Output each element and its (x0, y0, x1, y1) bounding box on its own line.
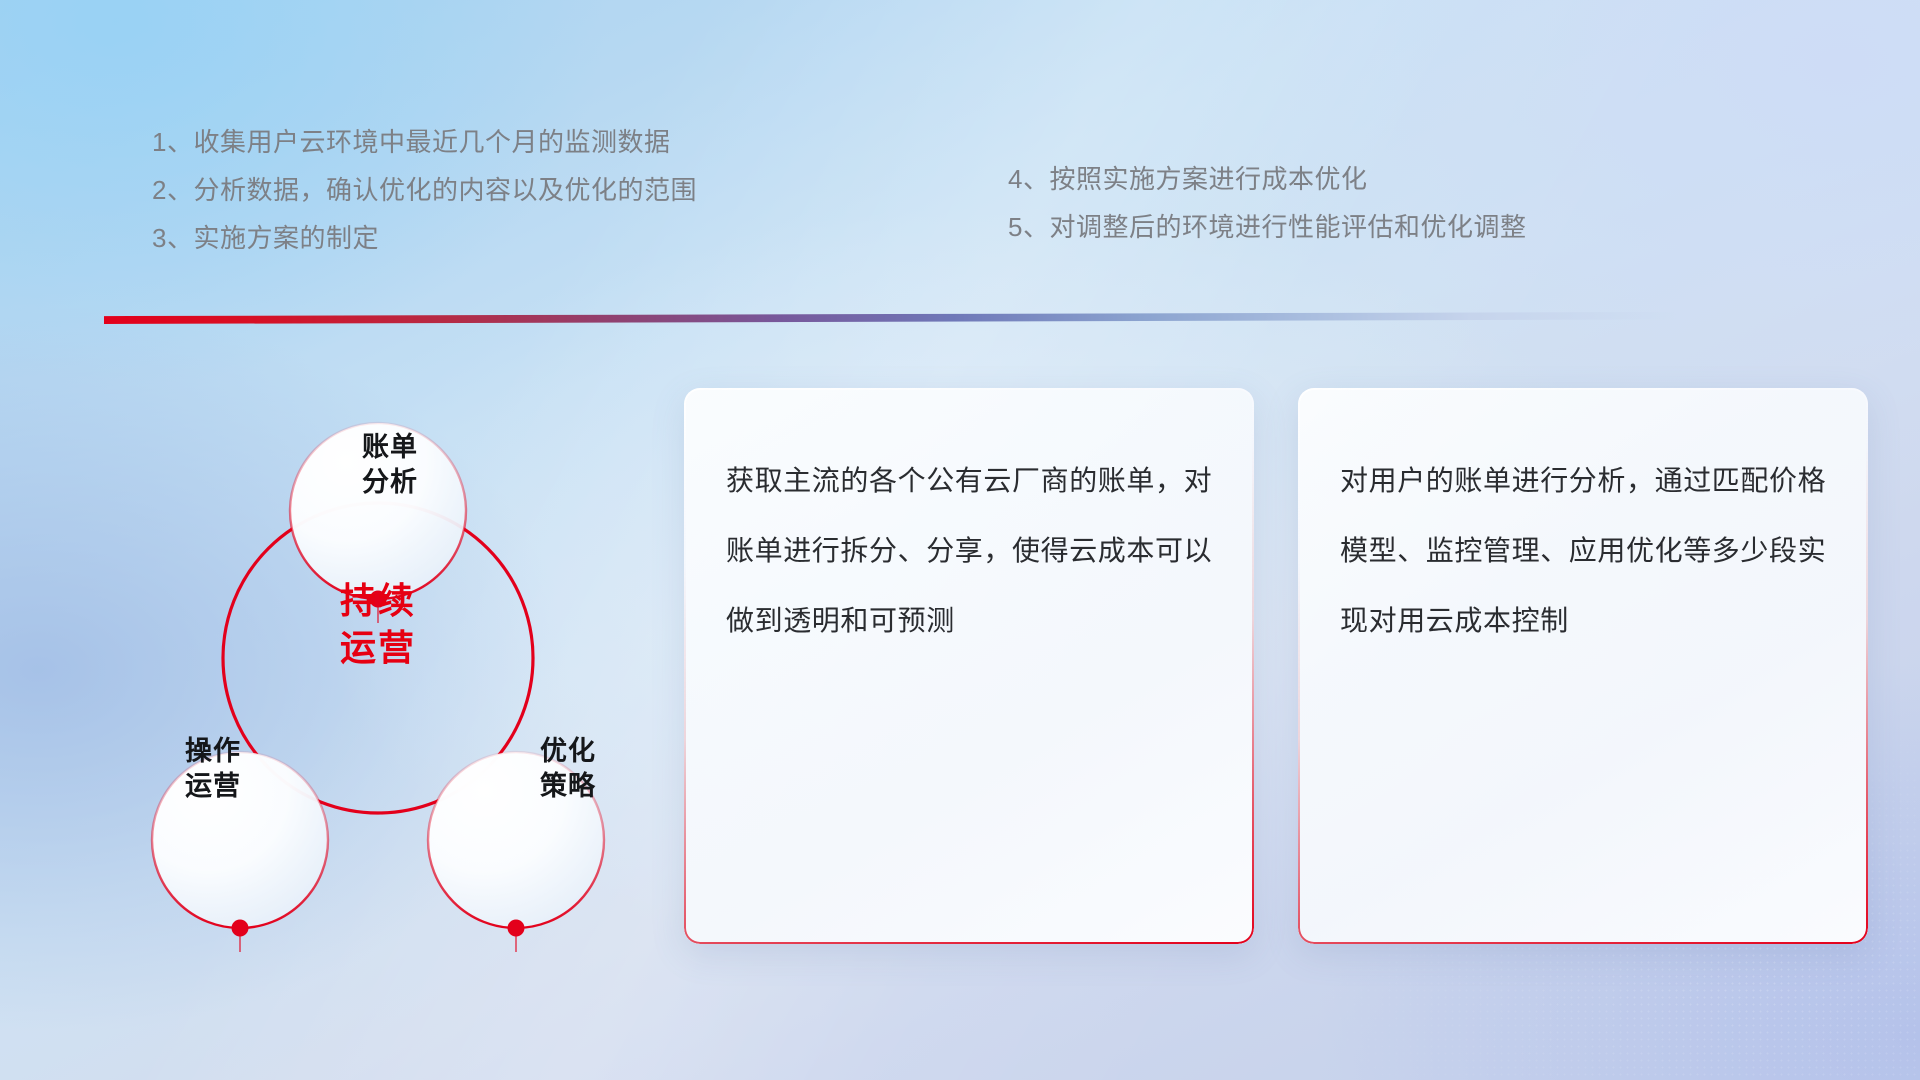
card-cloud-cost-optimization[interactable]: 对用户的账单进行分析，通过匹配价格模型、监控管理、应用优化等多少段实现对用云成本… (1298, 388, 1868, 944)
card-multi-cloud-billing-platform[interactable]: 获取主流的各个公有云厂商的账单，对账单进行拆分、分享，使得云成本可以做到透明和可… (684, 388, 1254, 944)
card-1-body: 获取主流的各个公有云厂商的账单，对账单进行拆分、分享，使得云成本可以做到透明和可… (726, 446, 1220, 656)
step-item-1: 1、收集用户云环境中最近几个月的监测数据 (152, 118, 697, 166)
section-divider (104, 312, 1676, 324)
step-item-2: 2、分析数据，确认优化的内容以及优化的范围 (152, 166, 697, 214)
step-item-5: 5、对调整后的环境进行性能评估和优化调整 (1008, 203, 1526, 251)
continuous-operations-diagram: 持续 运营 账单 分析 操作 运营 优化 策略 (88, 348, 668, 968)
card-2-body: 对用户的账单进行分析，通过匹配价格模型、监控管理、应用优化等多少段实现对用云成本… (1340, 446, 1834, 656)
section-divider-gradient (104, 312, 1676, 324)
bubble-optimization-dot (508, 920, 525, 937)
steps-column-left: 1、收集用户云环境中最近几个月的监测数据 2、分析数据，确认优化的内容以及优化的… (152, 118, 697, 262)
step-item-3: 3、实施方案的制定 (152, 214, 697, 262)
bubble-operations-dot (232, 920, 249, 937)
steps-column-right: 4、按照实施方案进行成本优化 5、对调整后的环境进行性能评估和优化调整 (1008, 155, 1526, 251)
step-item-4: 4、按照实施方案进行成本优化 (1008, 155, 1526, 203)
diagram-center-label: 持续 运营 (278, 578, 478, 672)
bubble-label-optimization: 优化 策略 (488, 734, 648, 803)
bubble-label-operations: 操作 运营 (133, 734, 293, 803)
bubble-label-billing-analysis: 账单 分析 (310, 430, 470, 499)
